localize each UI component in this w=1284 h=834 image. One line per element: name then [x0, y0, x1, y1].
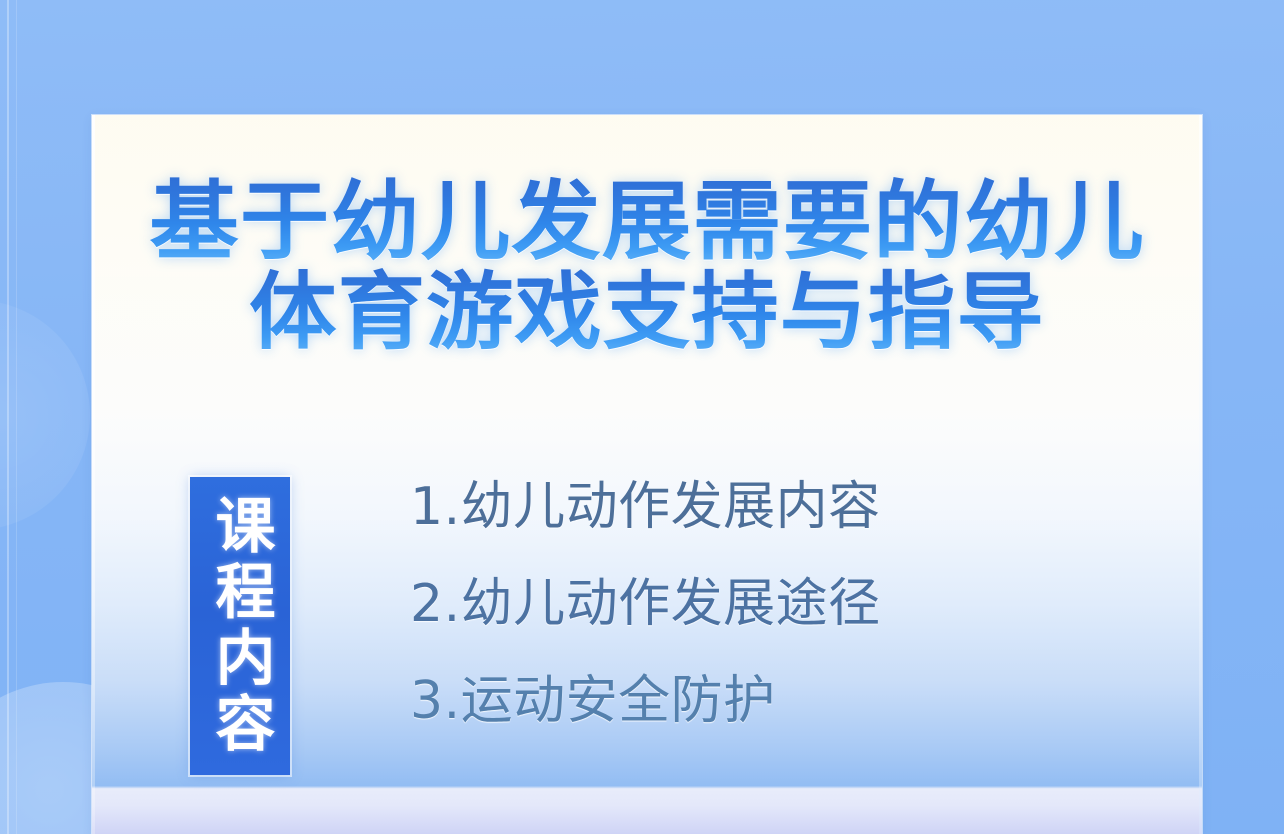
content-card: 基于幼儿发展需要的幼儿 体育游戏支持与指导 课程内容 1.幼儿动作发展内容 2.…	[92, 115, 1202, 834]
slide-canvas: 基于幼儿发展需要的幼儿 体育游戏支持与指导 课程内容 1.幼儿动作发展内容 2.…	[0, 0, 1284, 834]
list-item: 2.幼儿动作发展途径	[410, 576, 1070, 632]
list-item: 3.运动安全防护	[410, 673, 1070, 729]
slide-title-line-1: 基于幼儿发展需要的幼儿	[70, 177, 1224, 267]
slide-title-line-2: 体育游戏支持与指导	[70, 267, 1224, 357]
course-content-list: 1.幼儿动作发展内容 2.幼儿动作发展途径 3.运动安全防护	[410, 479, 1070, 729]
course-content-section: 课程内容 1.幼儿动作发展内容 2.幼儿动作发展途径 3.运动安全防护	[92, 477, 1202, 787]
course-content-badge: 课程内容	[190, 477, 290, 775]
course-content-badge-label: 课程内容	[206, 494, 274, 758]
slide-title: 基于幼儿发展需要的幼儿 体育游戏支持与指导	[92, 177, 1202, 357]
list-item: 1.幼儿动作发展内容	[410, 479, 1070, 535]
